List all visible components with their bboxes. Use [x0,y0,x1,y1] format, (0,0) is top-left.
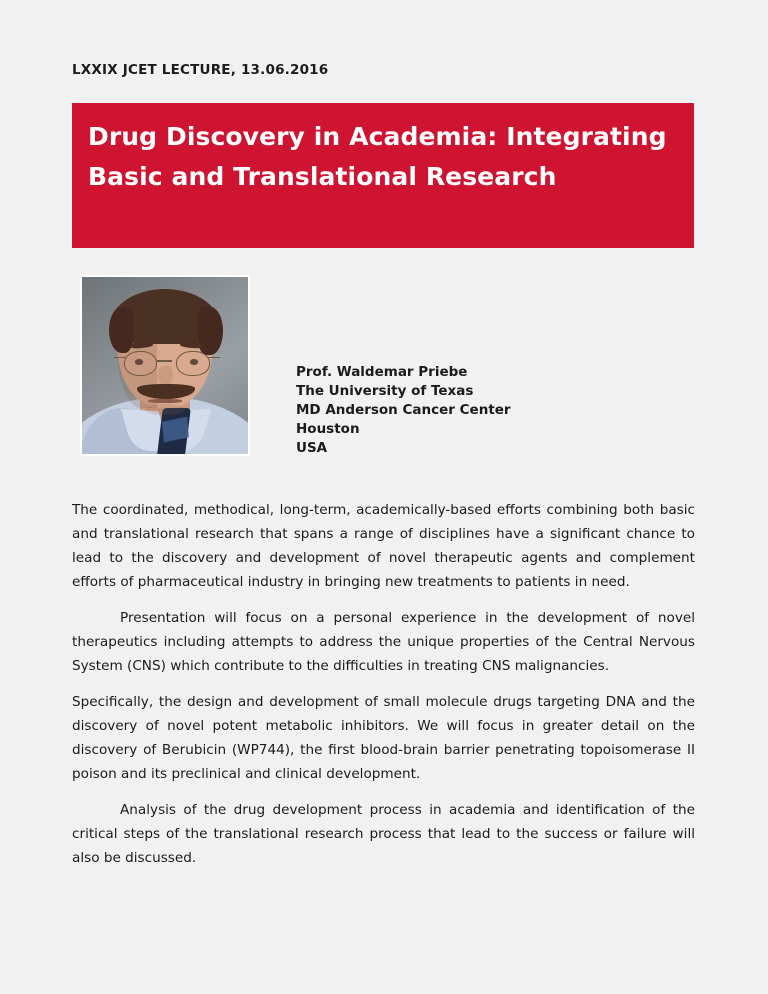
page-title: Drug Discovery in Academia: Integrating … [88,117,672,197]
portrait-glasses-lens-right [176,351,210,376]
abstract-paragraph: Presentation will focus on a personal ex… [72,606,695,678]
speaker-photo-frame [80,275,250,456]
speaker-info-block: Prof. Waldemar Priebe The University of … [296,363,511,458]
abstract-paragraph: Specifically, the design and development… [72,690,695,786]
speaker-name: Prof. Waldemar Priebe [296,363,511,382]
abstract-paragraph: Analysis of the drug development process… [72,798,695,870]
title-banner: Drug Discovery in Academia: Integrating … [72,103,694,248]
abstract-paragraph: The coordinated, methodical, long-term, … [72,498,695,594]
portrait-glasses-bridge [157,360,172,362]
abstract-body: The coordinated, methodical, long-term, … [72,498,695,870]
speaker-center: MD Anderson Cancer Center [296,401,511,420]
portrait-glasses-lens-left [124,351,158,376]
lecture-kicker: LXXIX JCET LECTURE, 13.06.2016 [72,62,328,78]
speaker-institution: The University of Texas [296,382,511,401]
speaker-city: Houston [296,420,511,439]
speaker-portrait-image [82,277,248,454]
portrait-glasses-temple-right [208,357,220,359]
lecture-announcement-page: LXXIX JCET LECTURE, 13.06.2016 Drug Disc… [0,0,768,994]
speaker-country: USA [296,439,511,458]
portrait-chin [145,404,185,415]
portrait-glasses-temple-left [114,357,126,359]
portrait-hair-right [198,307,223,355]
